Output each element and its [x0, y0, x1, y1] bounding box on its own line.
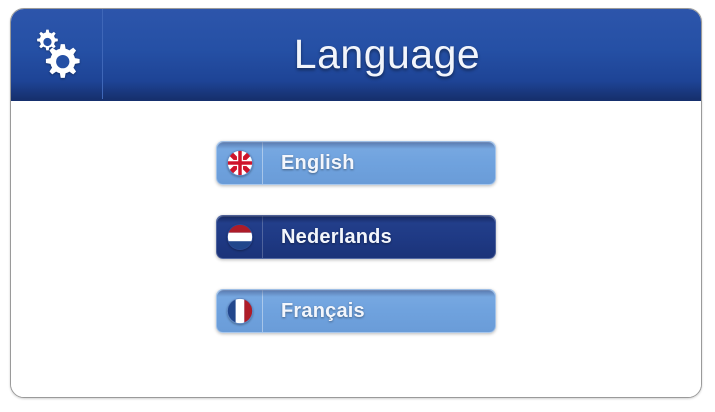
screen: Language — [0, 0, 715, 412]
flag-netherlands-icon — [227, 224, 253, 250]
flag-cell — [217, 216, 263, 258]
gears-icon — [27, 25, 87, 83]
flag-cell — [217, 142, 263, 184]
language-label: Nederlands — [263, 226, 495, 249]
flag-cell — [217, 290, 263, 332]
flag-france-icon — [227, 298, 253, 324]
settings-icon-cell[interactable] — [11, 9, 103, 99]
language-option-nederlands[interactable]: Nederlands — [216, 215, 496, 259]
content-area: English — [11, 103, 701, 397]
page-title: Language — [294, 31, 480, 78]
title-cell: Language — [103, 9, 701, 99]
language-label: Français — [263, 300, 495, 323]
language-option-english[interactable]: English — [216, 141, 496, 185]
flag-united-kingdom-icon — [227, 150, 253, 176]
titlebar: Language — [11, 9, 701, 101]
language-label: English — [263, 152, 495, 175]
language-option-francais[interactable]: Français — [216, 289, 496, 333]
device-panel: Language — [10, 8, 702, 398]
language-list: English — [11, 141, 701, 333]
